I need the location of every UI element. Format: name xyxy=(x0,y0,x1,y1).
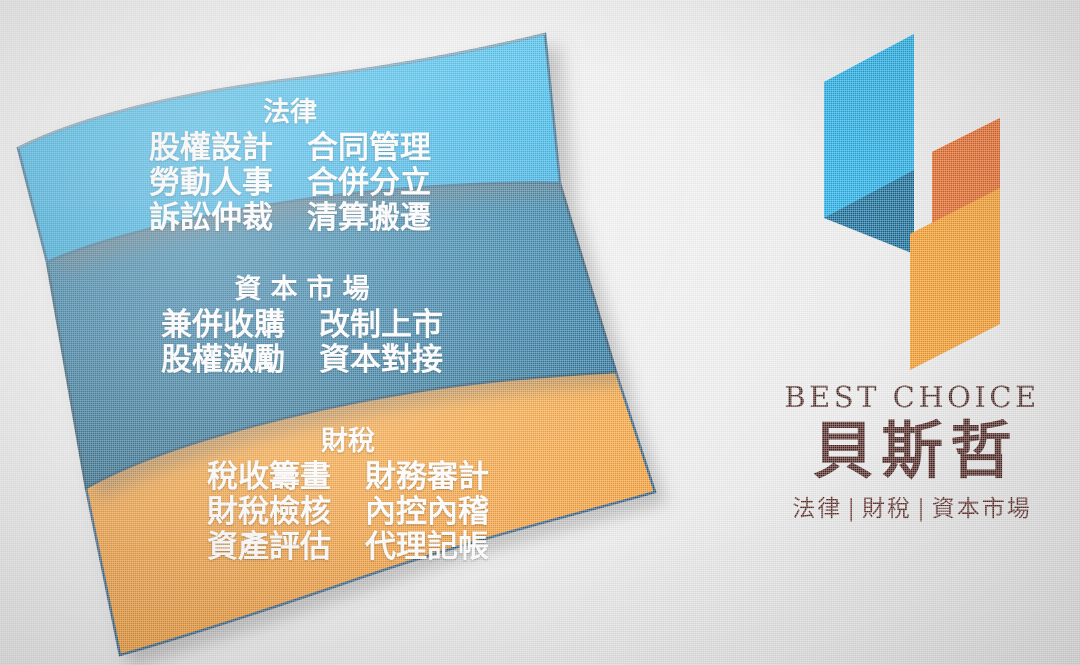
brand-tagline-separator-2: | xyxy=(912,496,932,522)
brand-tagline-part-law: 法律 xyxy=(792,496,842,522)
brand-logo-block: BEST CHOICE 貝斯哲 法律|財稅|資本市場 xyxy=(752,22,1072,523)
brand-name-chinese: 貝斯哲 xyxy=(752,418,1072,483)
brand-name-english: BEST CHOICE xyxy=(752,380,1072,414)
brand-tagline-part-capital: 資本市場 xyxy=(932,496,1032,522)
poster-canvas: 法律 股權設計合同管理 勞動人事合併分立 訴訟仲裁清算搬遷 資本市場 兼併收購改… xyxy=(0,0,1080,665)
brand-tagline-part-finance: 財稅 xyxy=(862,496,912,522)
brand-tagline-separator-1: | xyxy=(842,496,862,522)
brand-tagline: 法律|財稅|資本市場 xyxy=(752,489,1072,523)
best-choice-logo-icon xyxy=(782,22,1042,382)
service-ribbon-stack: 法律 股權設計合同管理 勞動人事合併分立 訴訟仲裁清算搬遷 資本市場 兼併收購改… xyxy=(0,0,720,665)
